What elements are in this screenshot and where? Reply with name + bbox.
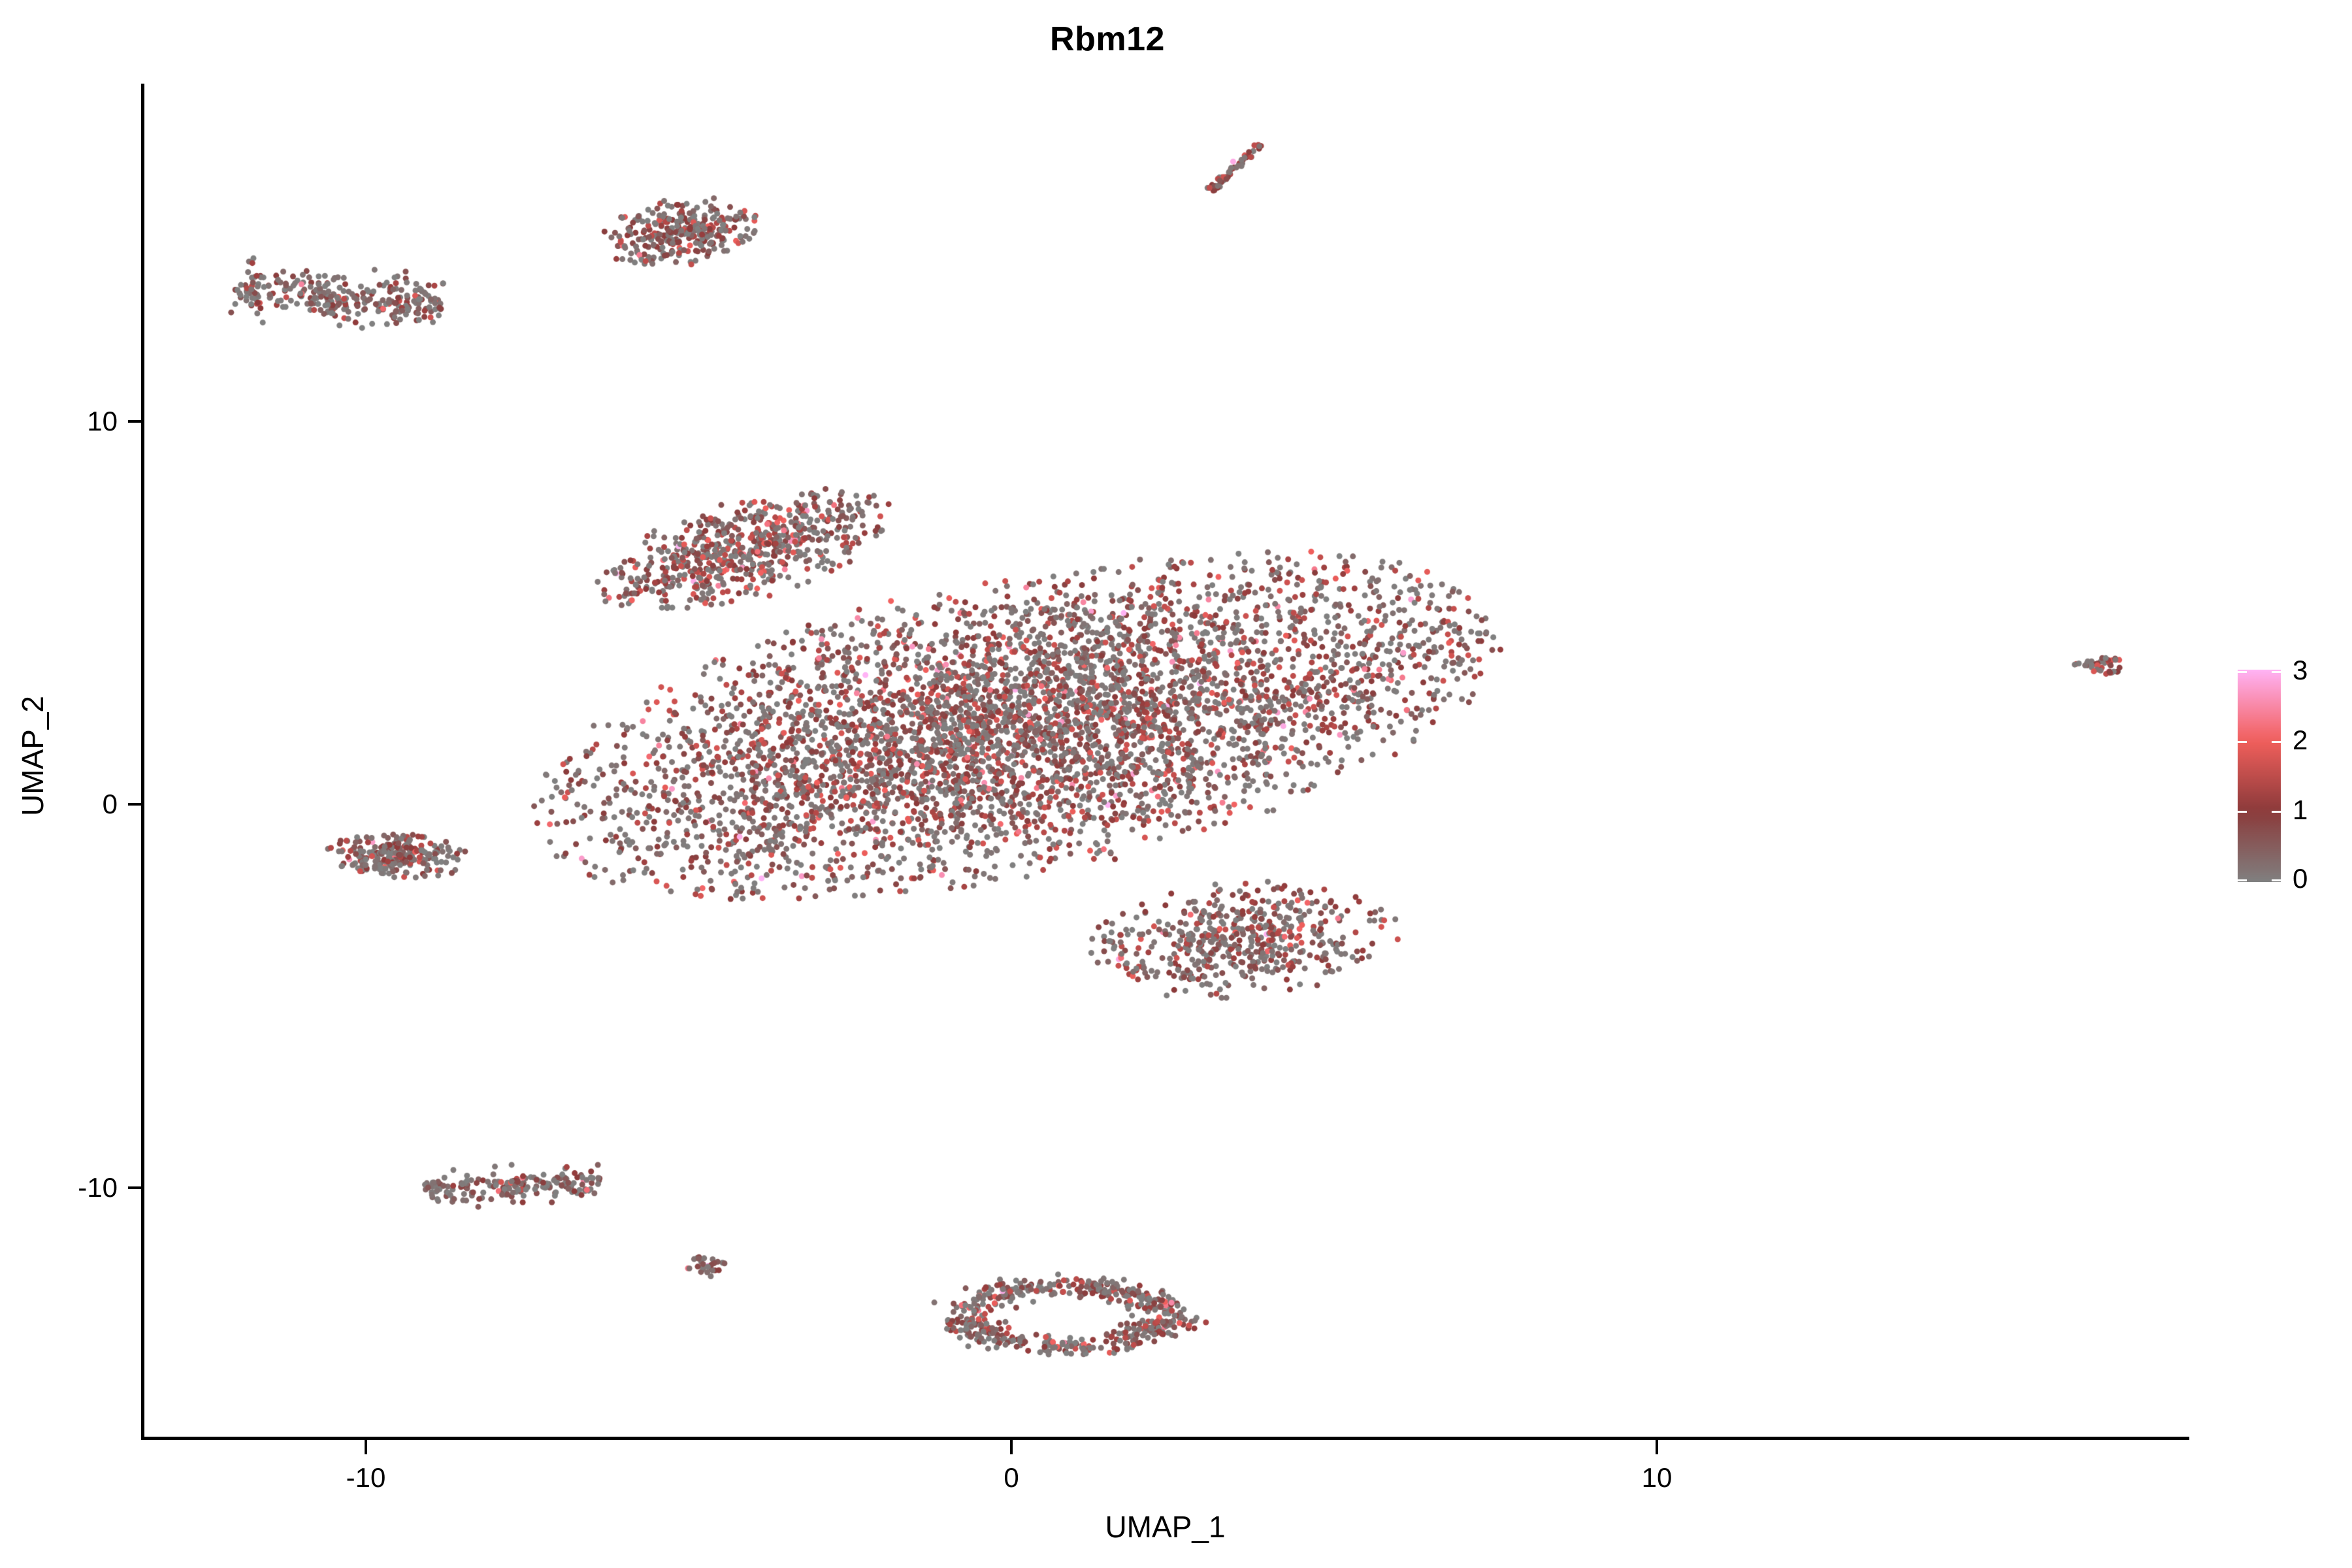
x-tick-mark (1656, 1440, 1658, 1454)
x-tick-mark (365, 1440, 367, 1454)
y-axis-title: UMAP_2 (15, 5, 50, 1507)
legend-tick-mark (2272, 879, 2281, 881)
legend-tick-mark (2238, 671, 2247, 673)
x-tick-mark (1010, 1440, 1013, 1454)
x-tick-label: -10 (301, 1462, 431, 1494)
x-tick-label: 0 (946, 1462, 1077, 1494)
y-tick-mark (128, 1186, 142, 1189)
plot-panel (144, 84, 2189, 1439)
x-tick-label: 10 (1592, 1462, 1722, 1494)
scatter-points-layer (144, 84, 2189, 1439)
legend-label: 1 (2293, 796, 2308, 824)
legend-tick-mark (2272, 811, 2281, 813)
legend-label: 2 (2293, 727, 2308, 754)
y-tick-mark (128, 803, 142, 806)
legend-colorbar (2238, 670, 2281, 882)
y-axis-line (141, 84, 144, 1440)
y-tick-mark (128, 420, 142, 423)
legend-label: 0 (2293, 865, 2308, 892)
legend-tick-mark (2238, 741, 2247, 743)
legend-tick-mark (2238, 879, 2247, 881)
x-axis-title: UMAP_1 (141, 1509, 2189, 1544)
legend-label: 3 (2293, 657, 2308, 684)
legend-tick-mark (2238, 811, 2247, 813)
legend-tick-mark (2272, 671, 2281, 673)
color-legend: 3 2 1 0 (2238, 670, 2342, 885)
x-axis-line (141, 1437, 2189, 1440)
legend-tick-mark (2272, 741, 2281, 743)
umap-feature-plot: Rbm12 10 0 -10 -10 0 10 UMAP_1 UMAP_2 3 … (0, 0, 2352, 1568)
page-title: Rbm12 (0, 20, 2215, 59)
